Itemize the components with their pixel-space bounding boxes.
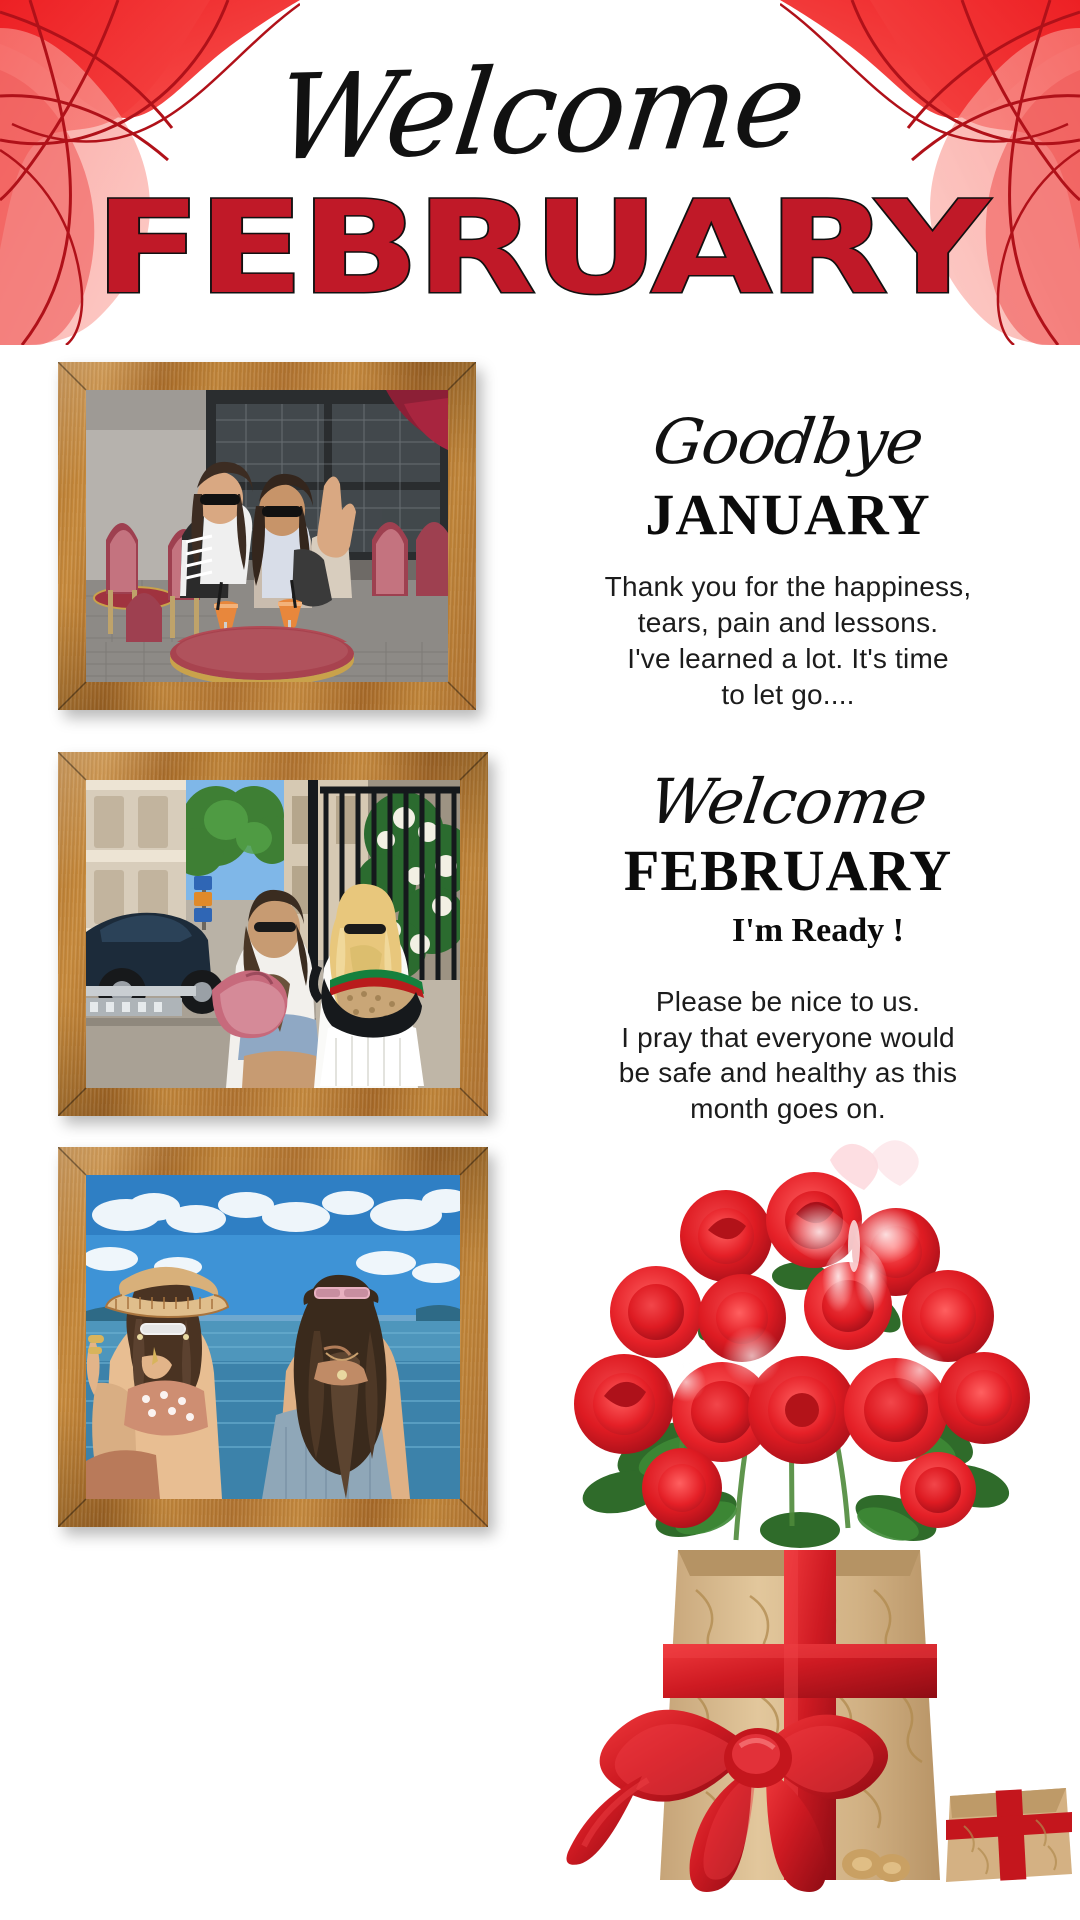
photo-mat-2: [86, 780, 460, 1088]
photo-frame-2: [58, 752, 488, 1116]
page-title: FEBRUARY: [0, 185, 1080, 313]
cafe-terrace-photo: [86, 390, 448, 682]
goodbye-january-block: Goodbye JANUARY Thank you for the happin…: [496, 410, 1080, 712]
goodbye-script-heading: Goodbye: [492, 410, 1080, 473]
body-line: to let go....: [496, 677, 1080, 713]
welcome-february-block: Welcome FEBRUARY I'm Ready ! Please be n…: [496, 770, 1080, 1127]
january-heading: JANUARY: [496, 483, 1080, 547]
welcome-body-copy: Please be nice to us. I pray that everyo…: [496, 984, 1080, 1127]
february-heading: FEBRUARY: [496, 839, 1080, 903]
seaside-photo: [86, 1175, 460, 1499]
city-street-photo: [86, 780, 460, 1088]
photo-frame-1: [58, 362, 476, 710]
poster-header: Welcome FEBRUARY: [0, 0, 1080, 350]
goodbye-body-copy: Thank you for the happiness, tears, pain…: [496, 569, 1080, 712]
body-line: I've learned a lot. It's time: [496, 641, 1080, 677]
photo-mat-1: [86, 390, 448, 682]
photo-frame-3: [58, 1147, 488, 1527]
rose-bouquet-gift-decoration: [500, 1120, 1080, 1920]
welcome-script-heading: Welcome: [492, 770, 1080, 833]
body-line: tears, pain and lessons.: [496, 605, 1080, 641]
im-ready-subheading: I'm Ready !: [496, 911, 1080, 952]
photo-mat-3: [86, 1175, 460, 1499]
body-line: Please be nice to us.: [496, 984, 1080, 1020]
small-gift-box: [946, 1788, 1072, 1882]
body-line: be safe and healthy as this: [496, 1055, 1080, 1091]
header-script-word: Welcome: [0, 38, 1080, 184]
body-line: I pray that everyone would: [496, 1020, 1080, 1056]
body-line: Thank you for the happiness,: [496, 569, 1080, 605]
